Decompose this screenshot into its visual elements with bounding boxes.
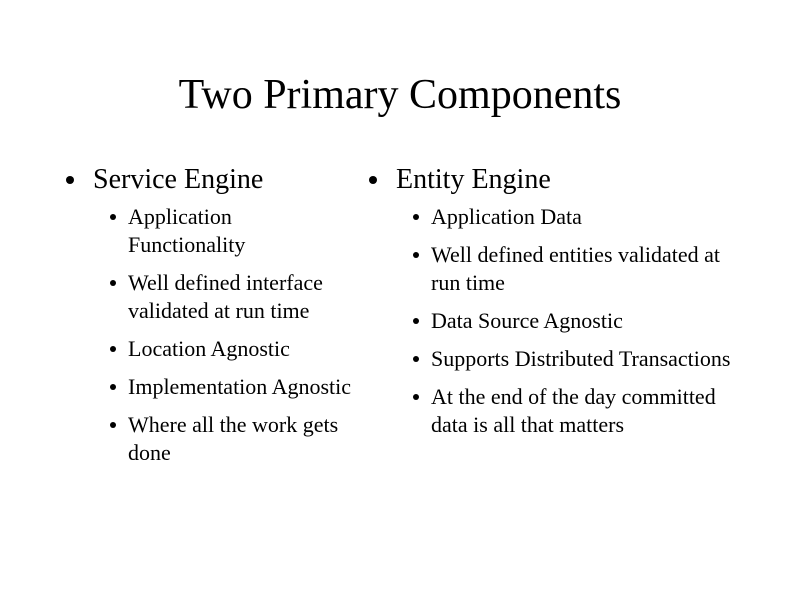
list-item: At the end of the day committed data is … xyxy=(413,383,752,439)
bullet-icon xyxy=(413,356,419,362)
bullet-icon xyxy=(110,384,116,390)
column-heading-service-engine: Service Engine xyxy=(62,163,352,197)
page-title: Two Primary Components xyxy=(0,70,800,120)
list-item: Supports Distributed Transactions xyxy=(413,345,752,373)
bullet-icon xyxy=(110,280,116,286)
list-item: Well defined entities validated at run t… xyxy=(413,241,752,297)
bullet-list-entity-engine: Application Data Well defined entities v… xyxy=(365,203,752,439)
list-item: Data Source Agnostic xyxy=(413,307,752,335)
list-item-label: Application Data xyxy=(431,203,752,231)
bullet-icon xyxy=(413,394,419,400)
slide: Two Primary Components Service Engine Ap… xyxy=(0,0,800,600)
list-item-label: Well defined entities validated at run t… xyxy=(431,241,752,297)
list-item-label: Where all the work gets done xyxy=(128,411,352,467)
column-service-engine: Service Engine Application Functionality… xyxy=(0,163,352,477)
column-entity-engine: Entity Engine Application Data Well defi… xyxy=(352,163,752,449)
list-item-label: Data Source Agnostic xyxy=(431,307,752,335)
bullet-icon xyxy=(110,346,116,352)
list-item-label: Implementation Agnostic xyxy=(128,373,352,401)
list-item-label: Location Agnostic xyxy=(128,335,352,363)
list-item: Where all the work gets done xyxy=(110,411,352,467)
bullet-icon xyxy=(413,318,419,324)
list-item-label: Application Functionality xyxy=(128,203,352,259)
bullet-icon xyxy=(66,176,74,184)
list-item-label: Supports Distributed Transactions xyxy=(431,345,752,373)
list-item: Application Functionality xyxy=(110,203,352,259)
list-item: Implementation Agnostic xyxy=(110,373,352,401)
bullet-list-service-engine: Application Functionality Well defined i… xyxy=(62,203,352,467)
list-item-label: At the end of the day committed data is … xyxy=(431,383,752,439)
list-item: Location Agnostic xyxy=(110,335,352,363)
list-item: Application Data xyxy=(413,203,752,231)
column-heading-entity-engine: Entity Engine xyxy=(365,163,752,197)
bullet-icon xyxy=(110,214,116,220)
bullet-icon xyxy=(413,252,419,258)
bullet-icon xyxy=(413,214,419,220)
column-heading-label: Service Engine xyxy=(93,164,263,195)
slide-body: Service Engine Application Functionality… xyxy=(0,163,800,477)
list-item: Well defined interface validated at run … xyxy=(110,269,352,325)
bullet-icon xyxy=(369,176,377,184)
column-heading-label: Entity Engine xyxy=(396,164,551,195)
bullet-icon xyxy=(110,422,116,428)
list-item-label: Well defined interface validated at run … xyxy=(128,269,352,325)
